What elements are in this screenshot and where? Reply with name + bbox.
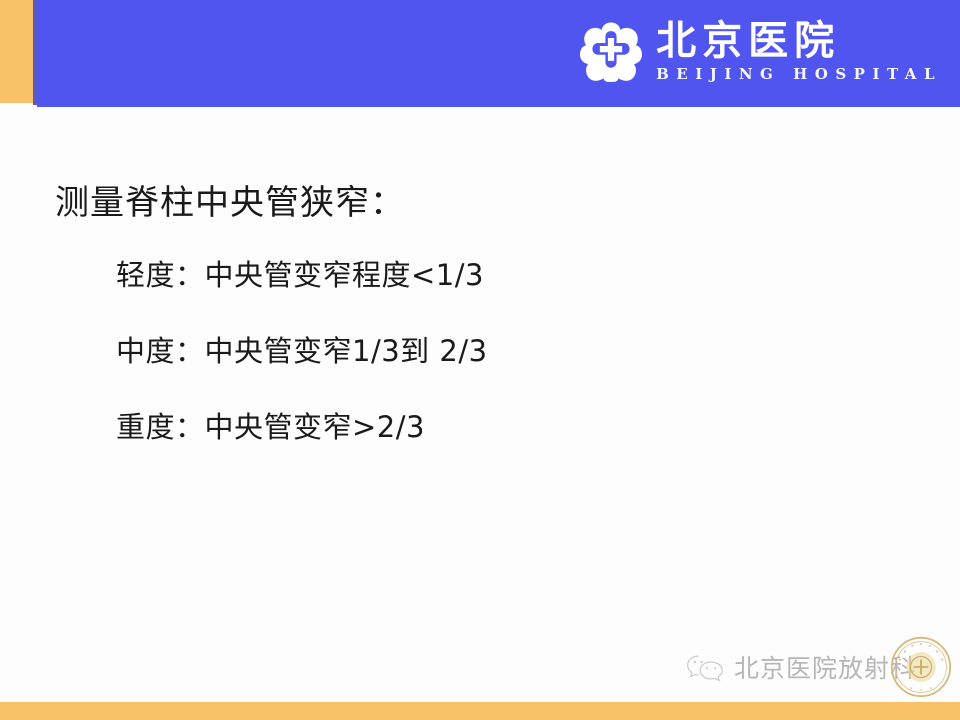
slide-header: 北京医院 BEIJING HOSPITAL (0, 0, 960, 107)
beijing-hospital-flower-cross-emblem (580, 20, 642, 82)
logo-text-block: 北京医院 BEIJING HOSPITAL (656, 21, 942, 82)
wechat-icon (686, 652, 726, 682)
list-item: 重度：中央管变窄>2/3 (116, 404, 488, 446)
logo-chinese-name: 北京医院 (656, 21, 840, 61)
presentation-slide: 北京医院 BEIJING HOSPITAL 测量脊柱中央管狭窄： 轻度：中央管变… (0, 0, 960, 720)
watermark-label: 北京医院放射科 (734, 649, 916, 685)
logo-english-name: BEIJING HOSPITAL (656, 67, 942, 82)
footer-watermark: 北京医院放射科 (686, 636, 952, 698)
list-item: 轻度：中央管变窄程度<1/3 (116, 252, 488, 294)
severity-grade-list: 轻度：中央管变窄程度<1/3 中度：中央管变窄1/3到 2/3 重度：中央管变窄… (116, 252, 488, 480)
hospital-round-seal (890, 636, 952, 698)
header-orange-accent (0, 0, 33, 103)
footer-orange-bar (0, 702, 960, 720)
page-title: 测量脊柱中央管狭窄： (55, 175, 405, 224)
list-item: 中度：中央管变窄1/3到 2/3 (116, 328, 488, 370)
hospital-logo: 北京医院 BEIJING HOSPITAL (580, 20, 942, 82)
